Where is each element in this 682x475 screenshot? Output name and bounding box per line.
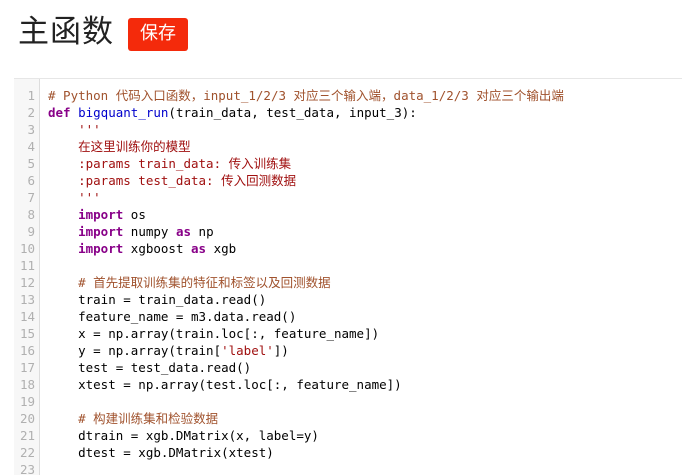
code-line[interactable]: ''': [48, 121, 682, 138]
code-line[interactable]: :params test_data: 传入回测数据: [48, 172, 682, 189]
line-number: 3: [14, 121, 35, 138]
line-number: 17: [14, 359, 35, 376]
line-number: 16: [14, 342, 35, 359]
code-token: # Python 代码入口函数，input_1/2/3 对应三个输入端，data…: [48, 88, 564, 103]
line-number: 21: [14, 427, 35, 444]
code-token: train = train_data.read(): [48, 292, 266, 307]
code-line[interactable]: ​: [48, 461, 682, 475]
line-number: 9: [14, 223, 35, 240]
line-number-gutter: 1234567891011121314151617181920212223: [14, 79, 40, 475]
code-token: as: [176, 224, 191, 239]
line-number: 11: [14, 257, 35, 274]
code-token: os: [123, 207, 146, 222]
code-token: as: [191, 241, 206, 256]
code-token: numpy: [123, 224, 176, 239]
code-token: x = np.array(train.loc[:, feature_name]): [48, 326, 379, 341]
code-line[interactable]: import xgboost as xgb: [48, 240, 682, 257]
code-line[interactable]: # 构建训练集和检验数据: [48, 410, 682, 427]
line-number: 22: [14, 444, 35, 461]
code-token: ]): [274, 343, 289, 358]
code-token: (train_data, test_data, input_3):: [168, 105, 416, 120]
code-token: [48, 122, 78, 137]
code-token: :params train_data: 传入训练集: [48, 156, 291, 171]
code-token: 'label': [221, 343, 274, 358]
code-line[interactable]: ​: [48, 393, 682, 410]
line-number: 23: [14, 461, 35, 475]
code-token: [48, 275, 78, 290]
code-line[interactable]: ​: [48, 257, 682, 274]
line-number: 6: [14, 172, 35, 189]
code-token: ''': [48, 190, 101, 205]
code-line[interactable]: def bigquant_run(train_data, test_data, …: [48, 104, 682, 121]
code-token: import: [78, 224, 123, 239]
code-token: xtest = np.array(test.loc[:, feature_nam…: [48, 377, 402, 392]
line-number: 5: [14, 155, 35, 172]
code-line[interactable]: x = np.array(train.loc[:, feature_name]): [48, 325, 682, 342]
code-editor[interactable]: 1234567891011121314151617181920212223 # …: [14, 78, 682, 475]
save-button[interactable]: 保存: [128, 18, 188, 51]
line-number: 15: [14, 325, 35, 342]
code-token: feature_name = m3.data.read(): [48, 309, 296, 324]
page-header: 主函数 保存: [0, 0, 682, 78]
code-token: [48, 224, 78, 239]
code-token: [48, 241, 78, 256]
line-number: 1: [14, 87, 35, 104]
code-line[interactable]: ''': [48, 189, 682, 206]
line-number: 19: [14, 393, 35, 410]
code-line[interactable]: dtrain = xgb.DMatrix(x, label=y): [48, 427, 682, 444]
line-number: 13: [14, 291, 35, 308]
code-token: dtest = xgb.DMatrix(xtest): [48, 445, 274, 460]
code-token: # 首先提取训练集的特征和标签以及回测数据: [78, 275, 331, 290]
code-token: np: [191, 224, 214, 239]
code-token: 在这里训练你的模型: [48, 139, 191, 154]
line-number: 4: [14, 138, 35, 155]
code-token: # 构建训练集和检验数据: [78, 411, 218, 426]
page-title: 主函数: [18, 14, 114, 50]
code-token: :params test_data: 传入回测数据: [48, 173, 296, 188]
line-number: 2: [14, 104, 35, 121]
line-number: 20: [14, 410, 35, 427]
code-token: xgboost: [123, 241, 191, 256]
code-token: [48, 207, 78, 222]
code-line[interactable]: import os: [48, 206, 682, 223]
code-line[interactable]: test = test_data.read(): [48, 359, 682, 376]
code-token: ''': [78, 122, 101, 137]
code-line[interactable]: 在这里训练你的模型: [48, 138, 682, 155]
code-line[interactable]: xtest = np.array(test.loc[:, feature_nam…: [48, 376, 682, 393]
code-line[interactable]: # Python 代码入口函数，input_1/2/3 对应三个输入端，data…: [48, 87, 682, 104]
line-number: 18: [14, 376, 35, 393]
code-token: [48, 411, 78, 426]
code-token: xgb: [206, 241, 236, 256]
line-number: 7: [14, 189, 35, 206]
code-line[interactable]: feature_name = m3.data.read(): [48, 308, 682, 325]
code-token: bigquant_run: [78, 105, 168, 120]
code-line[interactable]: :params train_data: 传入训练集: [48, 155, 682, 172]
line-number: 8: [14, 206, 35, 223]
code-line[interactable]: dtest = xgb.DMatrix(xtest): [48, 444, 682, 461]
code-token: import: [78, 207, 123, 222]
code-line[interactable]: import numpy as np: [48, 223, 682, 240]
code-token: import: [78, 241, 123, 256]
line-number: 10: [14, 240, 35, 257]
code-token: dtrain = xgb.DMatrix(x, label=y): [48, 428, 319, 443]
line-number: 14: [14, 308, 35, 325]
code-line[interactable]: train = train_data.read(): [48, 291, 682, 308]
code-token: y = np.array(train[: [48, 343, 221, 358]
code-line[interactable]: # 首先提取训练集的特征和标签以及回测数据: [48, 274, 682, 291]
code-content[interactable]: # Python 代码入口函数，input_1/2/3 对应三个输入端，data…: [40, 79, 682, 475]
code-token: test = test_data.read(): [48, 360, 251, 375]
code-token: def: [48, 105, 78, 120]
line-number: 12: [14, 274, 35, 291]
code-line[interactable]: y = np.array(train['label']): [48, 342, 682, 359]
